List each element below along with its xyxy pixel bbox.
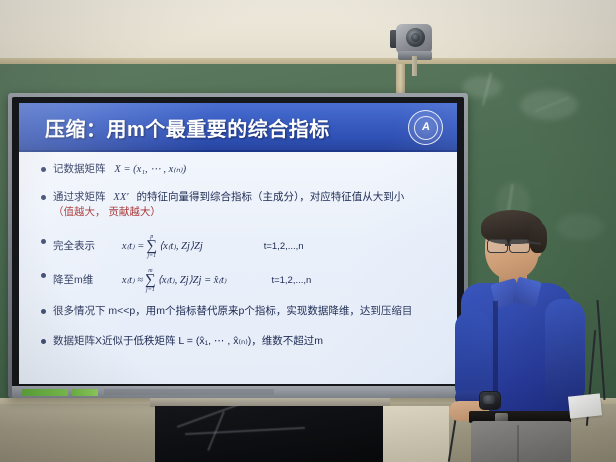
cabinet-side-panel xyxy=(383,406,449,462)
summation-symbol-icon: m ∑ j=1 xyxy=(145,268,156,293)
green-sticker-label xyxy=(22,389,68,396)
sigma-lower-limit: j=1 xyxy=(146,287,155,293)
camera-mount-post xyxy=(412,56,417,76)
bullet-6-text: 数据矩阵X近似于低秩矩阵 L = (x̂₁, ⋯ , x̂₍ₙ₎)，维数不超过m xyxy=(53,334,323,349)
bullet-dot-icon xyxy=(41,309,46,314)
page-title: 压缩：用m个最重要的综合指标 xyxy=(45,113,330,142)
bullet-dot-icon xyxy=(41,273,46,278)
logo-ring: A xyxy=(414,116,438,140)
paper-sheet xyxy=(568,393,602,418)
bullet-dot-icon xyxy=(41,167,46,172)
university-seal-logo: A xyxy=(408,110,443,145)
list-item: 完全表示 x₍t₎ = p ∑ j=1 ⟨x₍t₎, Zj⟩Zj t=1,2,.… xyxy=(41,234,304,259)
slide-body: 记数据矩阵 X = (x₁, ⋯ , x₍ₙ₎) 通过求矩阵 XX′ 的特征向量… xyxy=(19,152,457,384)
bullet-4-formula: x₍t₎ ≈ m ∑ j=1 ⟨x₍t₎, Zj⟩Zj = x̂₍t₎ xyxy=(122,268,227,293)
bullet-4-lead: 降至m维 xyxy=(53,273,119,288)
green-sticker-label-secondary xyxy=(72,389,98,396)
slide-title-bar: 压缩：用m个最重要的综合指标 A xyxy=(19,103,457,152)
lecturer xyxy=(449,215,599,462)
arm-left xyxy=(455,311,491,403)
bullet-3-lhs: x₍t₎ = xyxy=(122,239,144,254)
bullet-3-rhs: ⟨x₍t₎, Zj⟩Zj xyxy=(159,239,203,254)
bullet-1-lead: 记数据矩阵 xyxy=(53,163,106,175)
wristwatch-face xyxy=(483,395,495,404)
bullet-2-note-text: （值越大， 贡献越大） xyxy=(53,205,161,220)
bullet-3-formula: x₍t₎ = p ∑ j=1 ⟨x₍t₎, Zj⟩Zj xyxy=(122,234,203,259)
trousers xyxy=(471,421,571,462)
list-item: 降至m维 x₍t₎ ≈ m ∑ j=1 ⟨x₍t₎, Zj⟩Zj = x̂₍t₎… xyxy=(41,268,311,293)
bullet-dot-icon xyxy=(41,339,46,344)
sigma-lower-limit: j=1 xyxy=(147,253,156,259)
classroom-scene: 压缩：用m个最重要的综合指标 A 记数据矩阵 X = (x₁, ⋯ , x₍ₙ₎… xyxy=(0,0,616,462)
bullet-dot-icon xyxy=(41,239,46,244)
hair-side xyxy=(529,223,547,253)
bullet-3-lead: 完全表示 xyxy=(53,239,119,254)
bullet-3-index: t=1,2,...,n xyxy=(264,241,304,252)
presentation-screen[interactable]: 压缩：用m个最重要的综合指标 A 记数据矩阵 X = (x₁, ⋯ , x₍ₙ₎… xyxy=(19,103,457,384)
bullet-2-lead: 通过求矩阵 xyxy=(53,191,106,203)
list-item: 很多情况下 m<<p，用m个指标替代原来p个指标，实现数据降维，达到压缩目 xyxy=(41,304,412,319)
bullet-2-formula: XX′ xyxy=(113,192,128,203)
glasses-bridge xyxy=(505,244,511,246)
sigma-glyph: ∑ xyxy=(145,274,156,287)
logo-mark: A xyxy=(421,122,430,133)
upper-wall xyxy=(0,0,616,62)
bullet-4-lhs: x₍t₎ ≈ xyxy=(122,273,143,288)
camera-lens-inner xyxy=(411,33,420,42)
list-item: 通过求矩阵 XX′ 的特征向量得到综合指标（主成分），对应特征值从大到小 xyxy=(41,190,404,205)
bullet-5-text: 很多情况下 m<<p，用m个指标替代原来p个指标，实现数据降维，达到压缩目 xyxy=(53,304,412,319)
trouser-seam xyxy=(517,425,519,462)
sigma-glyph: ∑ xyxy=(146,240,157,253)
lectern xyxy=(155,406,383,462)
summation-symbol-icon: p ∑ j=1 xyxy=(146,234,157,259)
bullet-2-note: （值越大， 贡献越大） xyxy=(53,205,161,220)
arm-right xyxy=(545,299,585,403)
ptz-wall-camera xyxy=(388,18,438,60)
bullet-4-index: t=1,2,...,n xyxy=(271,275,311,286)
bullet-1-formula: X = (x₁, ⋯ , x₍ₙ₎) xyxy=(114,164,186,175)
bezel-model-text xyxy=(104,389,274,395)
bullet-4-rhs: ⟨x₍t₎, Zj⟩Zj = x̂₍t₎ xyxy=(158,273,227,288)
glasses-left-lens-icon xyxy=(487,239,508,253)
list-item: 数据矩阵X近似于低秩矩阵 L = (x̂₁, ⋯ , x̂₍ₙ₎)，维数不超过m xyxy=(41,334,323,349)
bullet-dot-icon xyxy=(41,195,46,200)
list-item: 记数据矩阵 X = (x₁, ⋯ , x₍ₙ₎) xyxy=(41,162,186,177)
bullet-2-tail: 的特征向量得到综合指标（主成分），对应特征值从大到小 xyxy=(136,191,404,203)
